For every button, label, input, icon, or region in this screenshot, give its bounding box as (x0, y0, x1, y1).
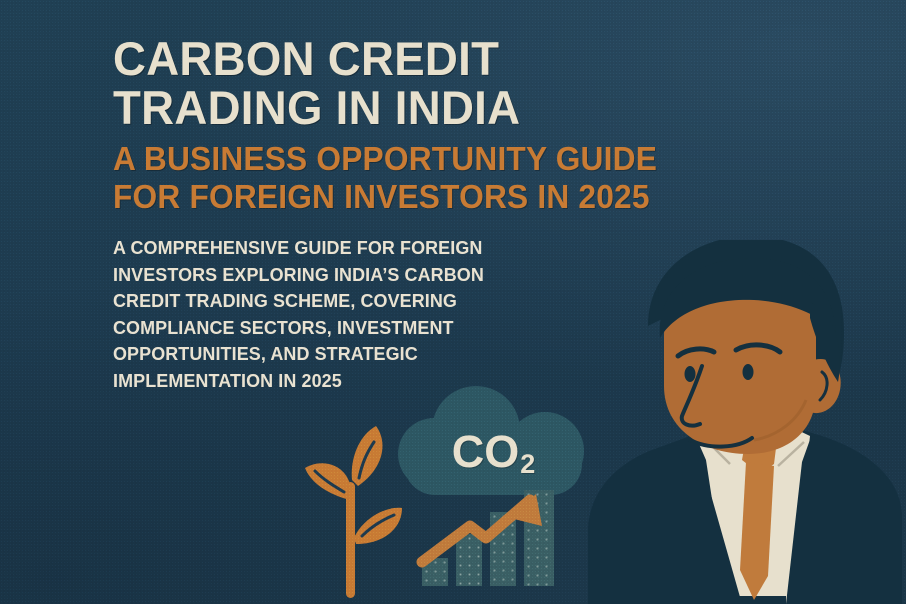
poster-text-block: CARBON CREDIT TRADING IN INDIA A BUSINES… (113, 34, 713, 394)
description-line-5: OPPORTUNITIES, AND STRATEGIC (113, 341, 695, 368)
page-subtitle: A BUSINESS OPPORTUNITY GUIDE FOR FOREIGN… (113, 140, 713, 216)
page-description: A COMPREHENSIVE GUIDE FOR FOREIGN INVEST… (113, 235, 713, 394)
plant-stem (346, 482, 355, 598)
plant-leaf-right (354, 508, 402, 544)
person-eye-right (743, 364, 754, 380)
description-line-3: CREDIT TRADING SCHEME, COVERING (113, 288, 695, 315)
person-jacket-close (728, 596, 786, 604)
subtitle-line-1: A BUSINESS OPPORTUNITY GUIDE (113, 140, 689, 178)
title-line-2: TRADING IN INDIA (113, 83, 695, 132)
subtitle-line-2: FOR FOREIGN INVESTORS IN 2025 (113, 178, 689, 216)
poster-canvas: CO2 (0, 0, 906, 604)
title-line-1: CARBON CREDIT (113, 34, 695, 83)
description-line-1: A COMPREHENSIVE GUIDE FOR FOREIGN (113, 235, 695, 262)
page-title: CARBON CREDIT TRADING IN INDIA (113, 34, 713, 132)
description-line-6: IMPLEMENTATION IN 2025 (113, 368, 695, 395)
description-line-4: COMPLIANCE SECTORS, INVESTMENT (113, 315, 695, 342)
plant-sprout-illustration (292, 424, 412, 604)
description-line-2: INVESTORS EXPLORING INDIA’S CARBON (113, 262, 695, 289)
